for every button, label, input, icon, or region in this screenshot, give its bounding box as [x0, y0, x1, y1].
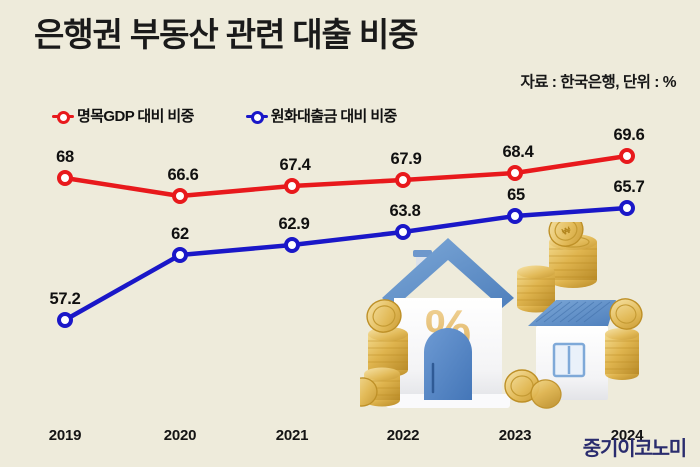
value-label-red-2024: 69.6: [614, 126, 645, 145]
value-label-blue-2021: 62.9: [279, 215, 310, 234]
house-with-coins-illustration: ₩: [360, 222, 660, 427]
legend-dot-blue: [251, 111, 264, 124]
legend-label-blue: 원화대출금 대비 비중: [271, 105, 397, 126]
value-label-blue-2020: 62: [171, 225, 189, 244]
x-axis-label-2021: 2021: [276, 427, 309, 444]
value-label-red-2022: 67.9: [391, 150, 422, 169]
value-label-red-2019: 68: [56, 148, 74, 167]
page-title: 은행권 부동산 관련 대출 비중: [34, 16, 417, 55]
legend-marker-blue-icon: [246, 110, 268, 122]
series-line-red: [65, 156, 627, 196]
source-note: 자료 : 한국은행, 단위 : %: [520, 70, 676, 92]
main-house: %: [382, 238, 514, 408]
x-axis-label-2019: 2019: [49, 427, 82, 444]
coin-stack-mid: [517, 266, 555, 313]
coin-stack-right: [605, 295, 646, 380]
chart-legend: 명목GDP 대비 비중 원화대출금 대비 비중: [52, 105, 397, 126]
value-label-blue-2022: 63.8: [390, 202, 421, 221]
x-axis-label-2023: 2023: [499, 427, 532, 444]
x-axis-label-2020: 2020: [164, 427, 197, 444]
infographic-root: 은행권 부동산 관련 대출 비중 자료 : 한국은행, 단위 : % 명목GDP…: [0, 0, 700, 467]
legend-item-red: 명목GDP 대비 비중: [52, 105, 194, 126]
x-axis-label-2022: 2022: [387, 427, 420, 444]
value-label-red-2021: 67.4: [280, 156, 311, 175]
legend-marker-red-icon: [52, 110, 74, 122]
value-label-blue-2019: 57.2: [50, 290, 81, 309]
series-markers-red: [59, 150, 633, 202]
publisher-watermark: 중기이코노미: [583, 432, 686, 461]
value-label-blue-2023: 65: [507, 186, 525, 205]
legend-label-red: 명목GDP 대비 비중: [77, 105, 194, 126]
value-label-blue-2024: 65.7: [614, 178, 645, 197]
legend-item-blue: 원화대출금 대비 비중: [246, 105, 397, 126]
coin-stack-left-front: [360, 368, 400, 409]
legend-dot-red: [57, 111, 70, 124]
value-label-red-2023: 68.4: [503, 143, 534, 162]
value-label-red-2020: 66.6: [168, 166, 199, 185]
